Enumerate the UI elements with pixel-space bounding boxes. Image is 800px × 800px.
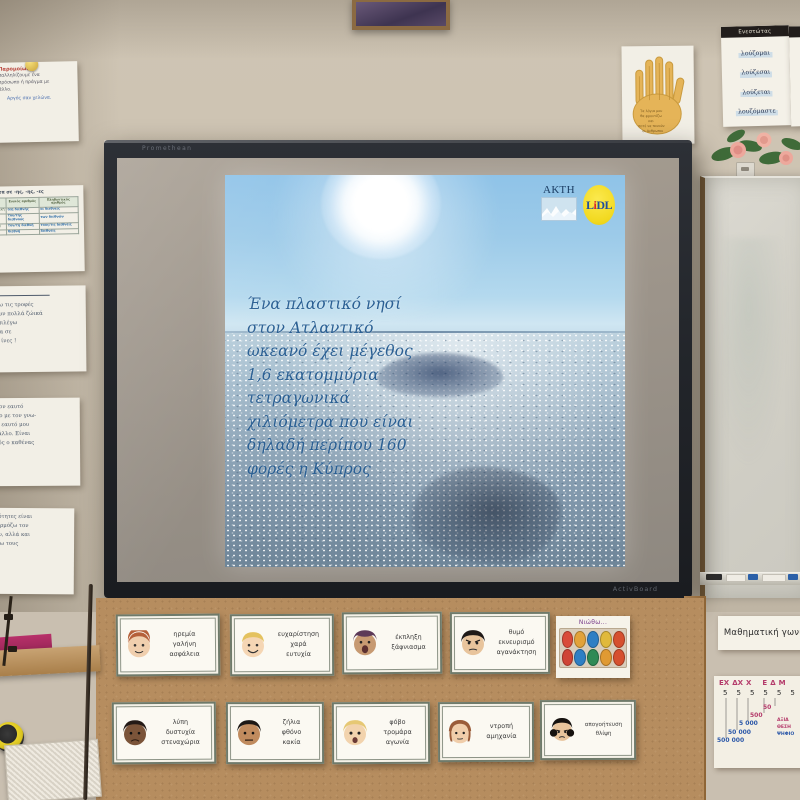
framed-picture-image xyxy=(356,2,446,26)
emotion-word: αγανάκτηση xyxy=(491,648,542,658)
wall-outlet xyxy=(736,162,755,177)
emotion-word: θυμό xyxy=(491,628,542,638)
slide-line-1: στον Ατλαντικό xyxy=(247,317,457,341)
lidl-logo-text-post: DL xyxy=(596,198,612,213)
egg-face xyxy=(600,631,612,648)
emotion-card-inner: θυμό εκνευρισμό αγανάκτηση xyxy=(454,616,546,670)
hand-poster-line-1: θα φροντίζω xyxy=(640,114,662,118)
emotion-word: αμηχανία xyxy=(477,732,526,742)
hand-poster-line-2: και xyxy=(648,119,654,123)
emotion-word: δυστυχία xyxy=(153,728,208,738)
hw1-line-4: φυτικές ίνες ! xyxy=(0,336,82,346)
emotion-card-words: ντροπή αμηχανία xyxy=(477,722,526,742)
hand-poster-line-4: οι άνθρωποι xyxy=(642,129,664,133)
emotion-card-inner: λύπη δυστυχία στεναχώρια xyxy=(116,706,212,761)
egg-carton xyxy=(559,628,627,668)
math-header-4: Δ xyxy=(770,679,775,687)
marker-black[interactable] xyxy=(706,574,722,580)
emotion-card-words: θυμό εκνευρισμό αγανάκτηση xyxy=(491,628,542,658)
conjugation-forms: λούζομαι λούζεσαι λούζεται λουζόμαστε λο… xyxy=(721,36,791,127)
marker-white[interactable] xyxy=(726,574,746,582)
math-legend-2: ΨΗΦΙΟ xyxy=(777,732,794,737)
math-header-5: Μ xyxy=(779,679,786,687)
face-icon xyxy=(124,630,154,660)
simile-poster-line-2: άλλο. xyxy=(0,86,73,94)
hw3-line-2: εαυτό μου, αλλά και xyxy=(0,530,70,540)
egg-face xyxy=(562,649,574,666)
lidl-logo-text-pre: L xyxy=(586,198,594,213)
grammar-cell-3-1: διεθνείς xyxy=(39,228,79,235)
grammar-poster: Επίθετα σε -ης, -ης, -ες Ενικός αριθμός … xyxy=(0,185,85,273)
emotion-word: γαλήνη xyxy=(157,640,212,650)
conjugation-poster: Ενεστώτας λούζομαι λούζεσαι λούζεται λου… xyxy=(721,25,791,127)
emotion-card[interactable]: απογοήτευση θλίψη xyxy=(540,700,636,760)
emotion-word: λύπη xyxy=(153,718,208,728)
akth-wave-graphic xyxy=(541,197,577,221)
simile-poster: Παρομοίωση παλληλίζουμε ένα πρόσωπο ή πρ… xyxy=(0,61,79,143)
eraser[interactable] xyxy=(762,574,786,582)
emotion-card-words: απογοήτευση θλίψη xyxy=(579,721,628,738)
akth-logo: ΑΚΤΗ xyxy=(541,185,577,221)
dark-water-patch-lower xyxy=(411,467,561,563)
whiteboard-screen[interactable]: ΑΚΤΗ LiDL Ένα πλαστικό νησί xyxy=(117,158,679,582)
math-header-2: Χ xyxy=(746,679,751,687)
emotion-word: εκνευρισμό xyxy=(491,638,542,648)
hw3-line-4: στόχους xyxy=(0,548,70,558)
math-value-0: 500 000 xyxy=(717,737,744,744)
math-value-3: 500 xyxy=(750,712,763,719)
face-icon xyxy=(350,628,380,658)
face-icon xyxy=(446,718,474,746)
math-digit-5: 5 xyxy=(790,689,794,697)
face-icon xyxy=(458,628,488,658)
grammar-table: Ενικός αριθμός Πληθυντικός αριθμός Ονομα… xyxy=(0,196,79,236)
emotion-card[interactable]: ντροπή αμηχανία xyxy=(438,702,534,762)
hand-poster-line-0: Τα λόγια μου xyxy=(639,109,662,113)
arrow-decoration xyxy=(0,290,82,299)
framed-picture xyxy=(352,0,450,30)
emotion-card-words: ζήλια φθόνο κακία xyxy=(267,718,316,748)
conjugation-poster-secondary xyxy=(789,26,800,127)
interactive-whiteboard[interactable]: Promethean ActivBoard ΑΚΤΗ xyxy=(104,140,692,598)
emotion-word: ζήλια xyxy=(267,718,316,728)
whiteboard-brand-label: Promethean xyxy=(142,145,192,152)
hand-poster-line-3: ποτέ να πονούν xyxy=(638,124,664,128)
handwritten-poster-3: Οι πιθανότητες είναι να προσαρμόζω τον ε… xyxy=(0,508,74,595)
conjugation-form-1: λούζεσαι xyxy=(739,67,772,79)
conjugation-form-3: λουζόμαστε xyxy=(736,105,778,117)
math-legend-1: ΘΕΣΗ xyxy=(777,725,791,730)
math-corner-sign-text: Μαθηματική γωνιά xyxy=(724,628,800,638)
emotion-card-words: έκπληξη ξάφνιασμα xyxy=(383,633,434,653)
side-whiteboard[interactable] xyxy=(700,176,800,598)
emotion-card-inner: ντροπή αμηχανία xyxy=(442,706,530,758)
emotion-card-inner: έκπληξη ξάφνιασμα xyxy=(346,616,438,671)
hw3-line-0: Οι πιθανότητες είναι xyxy=(0,513,70,523)
grammar-poster-title: Επίθετα σε -ης, -ης, -ες xyxy=(0,189,80,196)
handwritten-poster-1: Προσέχω τις τροφές που έχουν πολλά ζώικά… xyxy=(0,285,86,372)
emotion-word: αγωνία xyxy=(373,738,422,748)
emotion-word: ευχαρίστηση xyxy=(271,630,326,640)
cable-clip xyxy=(4,614,13,620)
emotion-card-words: λύπη δυστυχία στεναχώρια xyxy=(153,718,208,748)
math-digit-2: 5 xyxy=(750,689,754,697)
hw2-line-4: μοναδικός ο καθένας xyxy=(0,438,76,448)
math-digit-3: 5 xyxy=(763,689,767,697)
face-icon xyxy=(234,718,264,748)
slide-logos: ΑΚΤΗ LiDL xyxy=(541,185,615,225)
egg-face xyxy=(574,649,586,666)
lidl-logo: LiDL xyxy=(583,185,615,225)
emotion-word: ξάφνιασμα xyxy=(383,643,434,653)
emotion-card-inner: ευχαρίστηση χαρά ευτυχία xyxy=(234,618,330,673)
emotion-card-words: ηρεμία γαλήνη ασφάλεια xyxy=(157,630,212,660)
emotion-word: ντροπή xyxy=(477,722,526,732)
conjugation-form-0: λούζομαι xyxy=(739,48,772,60)
math-corner-sign: Μαθηματική γωνιά xyxy=(718,616,800,650)
emotion-word: στεναχώρια xyxy=(153,738,208,748)
emotion-card[interactable]: έκπληξη ξάφνιασμα xyxy=(342,612,442,675)
math-header-1: ΔΧ xyxy=(732,679,743,687)
marker-blue-2[interactable] xyxy=(788,574,798,580)
math-legend-0: ΑΞΙΑ xyxy=(777,718,789,723)
slide-body-text: Ένα πλαστικό νησί στον Ατλαντικό ωκεανό … xyxy=(247,293,457,481)
marker-blue[interactable] xyxy=(748,574,758,580)
math-digit-4: 5 xyxy=(777,689,781,697)
slide-line-7: φορές η Κύπρος xyxy=(247,458,457,482)
handwritten-poster-2: Αγαπώ τον εαυτό μου, μόνο με τον γνω- ρί… xyxy=(0,398,80,487)
emotion-card-inner: φόβο τρομάρα αγωνία xyxy=(336,706,426,760)
math-value-1: 50 000 xyxy=(728,729,751,736)
niotho-poster: Νιώθω... xyxy=(556,616,630,678)
emotion-word: έκπληξη xyxy=(383,633,434,643)
emotion-word: ευτυχία xyxy=(271,650,326,660)
grammar-col-0: Ενικός αριθμός xyxy=(6,197,39,207)
math-place-value-chart: ΕΧ ΔΧ Χ Ε Δ Μ 5 5 5 5 5 5 xyxy=(714,676,800,768)
conjugation-title-secondary xyxy=(789,26,800,38)
face-icon xyxy=(238,630,268,660)
math-header-0: ΕΧ xyxy=(719,679,729,687)
egg-face xyxy=(574,631,586,648)
slide-line-3: 1,6 εκατομμύρια xyxy=(247,364,457,388)
grammar-cell-1-0: του/της διεθνούς xyxy=(6,213,39,223)
slide-line-4: τετραγωνικά xyxy=(247,387,457,411)
math-digit-0: 5 xyxy=(723,689,727,697)
emotion-word: φθόνο xyxy=(267,728,316,738)
grammar-row: Κλητική διεθνή διεθνείς xyxy=(0,228,79,236)
classroom-scene: Παρομοίωση παλληλίζουμε ένα πρόσωπο ή πρ… xyxy=(0,0,800,800)
emotion-card[interactable]: λύπη δυστυχία στεναχώρια xyxy=(112,702,216,765)
egg-face xyxy=(587,649,599,666)
akth-logo-text: ΑΚΤΗ xyxy=(541,185,577,196)
math-digit-1: 5 xyxy=(736,689,740,697)
egg-face xyxy=(613,649,625,666)
emotion-card-words: φόβο τρομάρα αγωνία xyxy=(373,718,422,748)
grammar-cell-3-0: διεθνή xyxy=(6,229,39,236)
slide-line-2: ωκεανό έχει μέγεθος xyxy=(247,340,457,364)
slide-line-5: χιλιόμετρα που είναι xyxy=(247,411,457,435)
math-chart-headers: ΕΧ ΔΧ Χ Ε Δ Μ xyxy=(719,679,800,687)
emotion-word: απογοήτευση xyxy=(579,721,628,730)
emotion-card[interactable]: ευχαρίστηση χαρά ευτυχία xyxy=(230,614,334,677)
hand-poster: Τα λόγια μου θα φροντίζω και ποτέ να πον… xyxy=(621,46,694,145)
emotion-card[interactable]: ζήλια φθόνο κακία xyxy=(226,702,324,764)
hw3-line-3: να αλλάζω τους xyxy=(0,539,70,549)
projected-slide[interactable]: ΑΚΤΗ LiDL Ένα πλαστικό νησί xyxy=(225,175,625,567)
egg-face xyxy=(600,649,612,666)
emotion-card[interactable]: θυμό εκνευρισμό αγανάκτηση xyxy=(450,612,550,674)
emotion-word: θλίψη xyxy=(579,730,628,739)
emotion-card-inner: ζήλια φθόνο κακία xyxy=(230,706,320,760)
face-icon xyxy=(340,718,370,748)
egg-face xyxy=(587,631,599,648)
face-icon xyxy=(120,718,150,748)
emotion-word: κακία xyxy=(267,738,316,748)
emotion-word: φόβο xyxy=(373,718,422,728)
simile-poster-example: Αργός σαν χελώνα. xyxy=(7,95,73,103)
math-chart-ladder: 50 500 5 000 50 000 500 000 ΑΞΙΑ ΘΕΣΗ ΨΗ… xyxy=(717,698,800,744)
emotion-word: ασφάλεια xyxy=(157,650,212,660)
math-value-4: 50 xyxy=(763,704,771,711)
bezel-highlight xyxy=(104,140,692,143)
emotion-word: τρομάρα xyxy=(373,728,422,738)
math-header-3: Ε xyxy=(762,679,767,687)
face-icon xyxy=(548,716,576,744)
egg-face xyxy=(562,631,574,648)
emotion-card[interactable]: ηρεμία γαλήνη ασφάλεια xyxy=(116,614,221,677)
slide-line-6: δηλαδή περίπου 160 xyxy=(247,434,457,458)
hw3-line-1: να προσαρμόζω τον xyxy=(0,522,70,532)
math-value-2: 5 000 xyxy=(739,720,758,727)
emotion-word: ηρεμία xyxy=(157,630,212,640)
emotion-card[interactable]: φόβο τρομάρα αγωνία xyxy=(332,702,430,765)
slide-line-0: Ένα πλαστικό νησί xyxy=(247,293,457,317)
emotion-card-words: ευχαρίστηση χαρά ευτυχία xyxy=(271,630,326,660)
egg-face xyxy=(613,631,625,648)
emotion-card-inner: απογοήτευση θλίψη xyxy=(544,704,632,756)
cable-clip xyxy=(8,646,17,652)
emotion-card-inner: ηρεμία γαλήνη ασφάλεια xyxy=(120,618,216,673)
emotion-word: χαρά xyxy=(271,640,326,650)
whiteboard-smudge xyxy=(723,238,787,468)
math-chart-digits: 5 5 5 5 5 5 xyxy=(723,689,800,697)
hand-icon: Τα λόγια μου θα φροντίζω και ποτέ να πον… xyxy=(626,52,691,141)
conjugation-form-2: λούζεται xyxy=(740,86,772,98)
niotho-poster-title: Νιώθω... xyxy=(559,619,627,626)
